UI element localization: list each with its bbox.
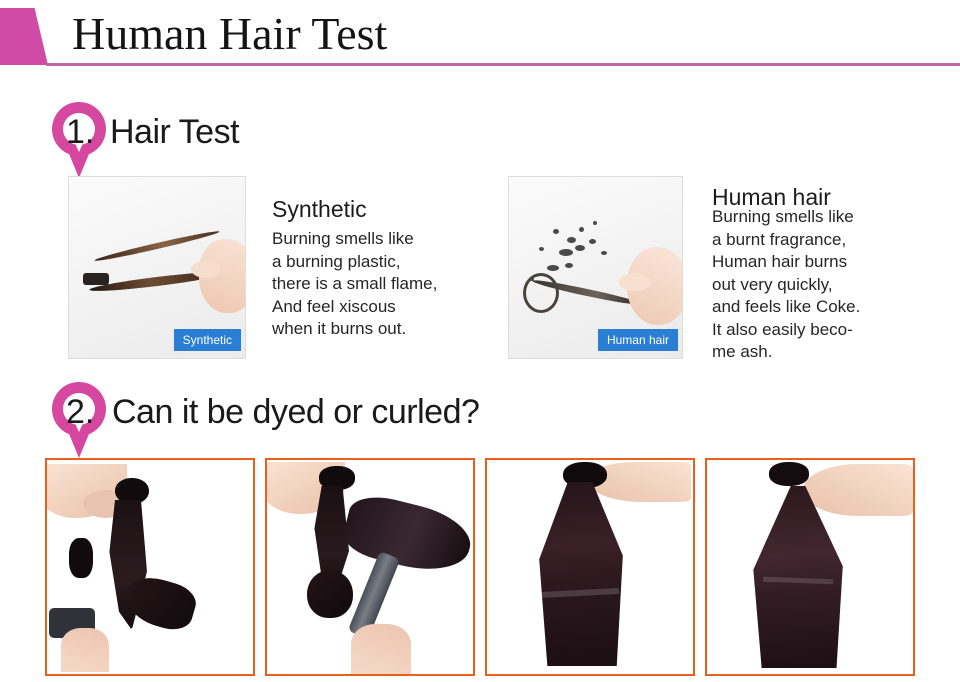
photo-human-hair-burn-test: Human hair — [508, 176, 683, 359]
hair-bundle — [529, 482, 631, 666]
photo-dye-curl-2 — [265, 458, 475, 676]
section-1-number: 1. — [66, 112, 94, 152]
hair-curl-bottom — [307, 570, 353, 618]
ash-speck — [559, 249, 573, 256]
ash-speck — [539, 247, 544, 251]
hair-bundle-right — [339, 490, 475, 581]
hand — [803, 464, 913, 516]
hand-lower — [351, 624, 411, 674]
hair-weft-top — [769, 462, 809, 486]
ash-speck — [529, 277, 534, 281]
badge-synthetic: Synthetic — [174, 329, 241, 351]
page-title: Human Hair Test — [72, 6, 387, 62]
hair-strand-left — [69, 538, 93, 578]
page-header: Human Hair Test — [0, 0, 960, 70]
synthetic-body: Burning smells like a burning plastic, t… — [272, 228, 437, 341]
finger-thumb — [619, 273, 651, 291]
badge-human-hair: Human hair — [598, 329, 678, 351]
hair-burnt-tip — [83, 273, 109, 285]
photo-dye-curl-3 — [485, 458, 695, 676]
ash-speck — [547, 265, 559, 271]
ash-speck — [593, 221, 597, 225]
section-2-title: Can it be dyed or curled? — [112, 392, 479, 432]
page-root: Human Hair Test 1. Hair Test Synthetic S… — [0, 0, 960, 682]
finger-thumb — [191, 261, 221, 278]
synthetic-heading: Synthetic — [272, 195, 367, 223]
header-accent-shape — [0, 8, 48, 65]
hand-lower — [61, 628, 109, 672]
photo-dye-curl-1 — [45, 458, 255, 676]
ash-speck — [565, 263, 573, 268]
ash-speck — [553, 229, 559, 234]
section-2-number: 2. — [66, 392, 94, 432]
ash-speck — [575, 245, 585, 251]
ash-speck — [601, 251, 607, 255]
photo-dye-curl-4 — [705, 458, 915, 676]
ash-speck — [579, 227, 584, 232]
section-1-title: Hair Test — [110, 112, 239, 152]
ash-speck — [567, 237, 576, 243]
human-hair-body: Burning smells like a burnt fragrance, H… — [712, 206, 860, 364]
header-divider — [46, 63, 960, 66]
ash-speck — [589, 239, 596, 244]
photo-synthetic-burn-test: Synthetic — [68, 176, 246, 359]
